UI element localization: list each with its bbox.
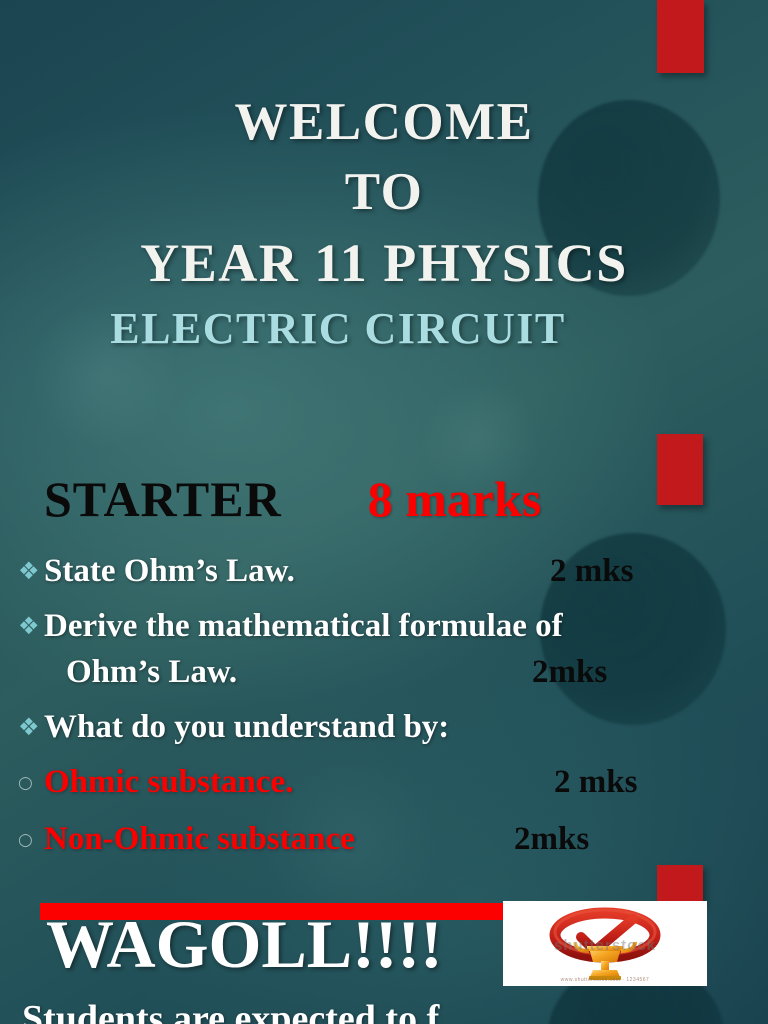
question-text-continued: Ohm’s Law. (66, 649, 237, 695)
list-item: ❖ State Ohm’s Law. 2 mks (18, 548, 718, 594)
wagoll-trophy-image: shutterstock www.shutterstock.com · 1234… (503, 901, 707, 986)
diamond-bullet-icon: ❖ (18, 704, 44, 750)
circle-bullet-icon: ○ (18, 759, 44, 807)
title-line-year-11-physics: YEAR 11 PHYSICS (0, 228, 768, 299)
question-marks: 2mks (532, 649, 607, 695)
question-marks: 2mks (514, 816, 589, 862)
list-item: ○ Non-Ohmic substance 2mks (18, 816, 718, 864)
trophy-checkmark-graphic (503, 901, 707, 986)
list-item: ❖ What do you understand by: (18, 704, 718, 750)
starter-heading-row: STARTER 8 marks (44, 470, 684, 528)
list-item: ❖ Derive the mathematical formulae of Oh… (18, 603, 718, 695)
diamond-bullet-icon: ❖ (18, 548, 44, 594)
diamond-bullet-icon: ❖ (18, 603, 44, 649)
starter-heading: STARTER (44, 470, 282, 528)
question-text: Ohmic substance. (44, 759, 293, 805)
wagoll-heading: WAGOLL!!!! (46, 910, 443, 978)
question-text: State Ohm’s Law. (44, 548, 295, 594)
slide-title-block: WELCOME TO YEAR 11 PHYSICS ELECTRIC CIRC… (0, 88, 768, 354)
circle-bullet-icon: ○ (18, 816, 44, 864)
question-marks: 2 mks (550, 548, 633, 594)
bottom-cutoff-text: Students are expected to f (22, 997, 742, 1024)
question-text: What do you understand by: (44, 704, 449, 750)
title-line-welcome: WELCOME (0, 88, 768, 158)
presentation-slide: WELCOME TO YEAR 11 PHYSICS ELECTRIC CIRC… (0, 0, 768, 1024)
question-marks: 2 mks (554, 759, 637, 805)
starter-total-marks: 8 marks (368, 470, 542, 528)
decorative-red-block-top (657, 0, 704, 73)
question-list: ❖ State Ohm’s Law. 2 mks ❖ Derive the ma… (18, 548, 718, 873)
slide-subtitle-electric-circuit: ELECTRIC CIRCUIT (0, 303, 768, 354)
title-line-to: TO (0, 158, 768, 228)
list-item: ○ Ohmic substance. 2 mks (18, 759, 718, 807)
question-text: Non-Ohmic substance (44, 816, 355, 862)
question-text: Derive the mathematical formulae of (44, 603, 563, 649)
